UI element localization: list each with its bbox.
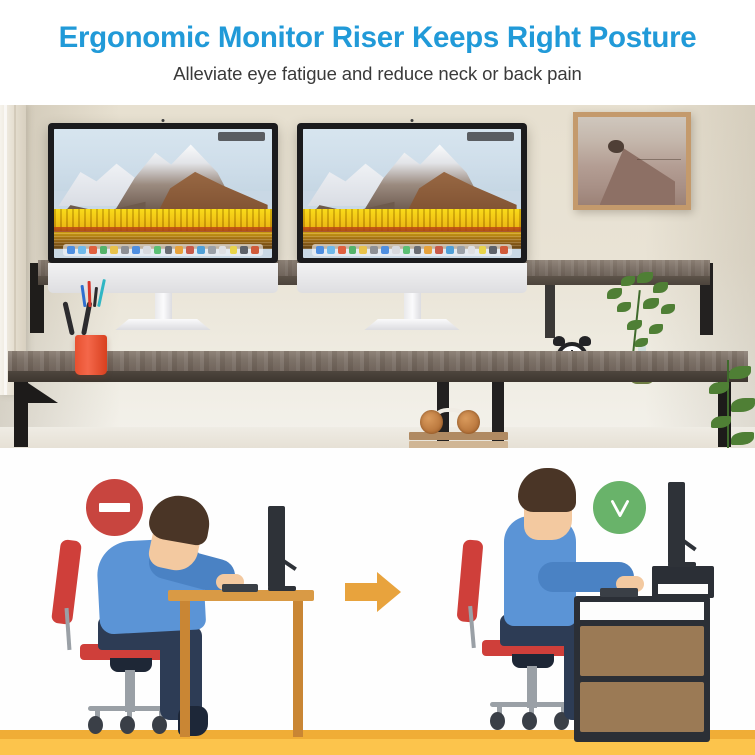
leaf	[649, 324, 663, 334]
person-hair	[518, 468, 576, 512]
artwork-hill	[600, 143, 676, 205]
leaf	[617, 302, 631, 312]
right-monitor-camera	[411, 119, 414, 122]
leaf	[661, 304, 675, 314]
photo-floor	[0, 427, 755, 448]
screen-dock	[63, 244, 264, 256]
leaf	[627, 320, 642, 330]
headphone-earcup-right	[457, 410, 480, 434]
desk-front-edge	[8, 371, 748, 382]
chair-caster-2	[120, 716, 135, 734]
riser-leg-middle	[545, 280, 555, 338]
leaf	[653, 282, 668, 293]
right-monitor-base	[365, 319, 460, 330]
right-monitor-screen	[303, 129, 521, 258]
page-subtitle: Alleviate eye fatigue and reduce neck or…	[0, 63, 755, 85]
keyboard	[600, 588, 638, 597]
keyboard	[222, 584, 258, 592]
leaf	[637, 272, 653, 283]
right-monitor-chin	[297, 263, 527, 293]
right-monitor	[297, 123, 527, 330]
pencil-cup	[75, 335, 107, 375]
floor-plant	[713, 360, 755, 448]
monitor-base	[668, 562, 696, 567]
monitor-riser-shelf	[658, 584, 708, 594]
vase-foliage	[605, 270, 685, 360]
left-monitor-neck	[155, 293, 172, 319]
desk-surface	[8, 351, 748, 371]
monitor-base	[268, 586, 296, 591]
header-section: Ergonomic Monitor Riser Keeps Right Post…	[0, 0, 755, 105]
product-feature-image: Ergonomic Monitor Riser Keeps Right Post…	[0, 0, 755, 755]
left-monitor-bezel	[48, 123, 278, 263]
leaf	[731, 398, 755, 412]
leaf	[607, 288, 622, 299]
cabinet-drawer-upper	[580, 626, 704, 676]
right-monitor-bezel	[297, 123, 527, 263]
bad-posture-scene	[0, 448, 378, 755]
leaf	[635, 338, 648, 347]
headphone-earcup-left	[420, 410, 443, 434]
pens-group	[80, 317, 104, 341]
good-posture-scene	[378, 448, 755, 755]
scissor-blade-left	[62, 301, 75, 335]
leaf	[709, 382, 729, 394]
page-title: Ergonomic Monitor Riser Keeps Right Post…	[0, 22, 755, 54]
left-monitor-base	[116, 319, 211, 330]
desk-woodgrain	[8, 351, 748, 371]
cabinet-drawer-lower	[580, 682, 704, 732]
leaf	[731, 432, 754, 445]
chair-caster-1	[88, 716, 103, 734]
screen-dock	[312, 244, 513, 256]
screen-menubar	[467, 132, 515, 141]
chair-caster-2	[522, 712, 537, 730]
framed-artwork	[573, 112, 691, 210]
left-monitor-camera	[162, 119, 165, 122]
artwork-canvas	[578, 117, 686, 205]
headphones	[414, 408, 486, 436]
artwork-tree	[608, 140, 624, 153]
left-monitor-screen	[54, 129, 272, 258]
product-photo: THRIFT EPSON	[0, 105, 755, 448]
chair-caster-1	[490, 712, 505, 730]
monitor-screen	[268, 506, 285, 588]
desk-leg-left	[180, 601, 190, 737]
leaf	[729, 366, 751, 379]
leaf	[621, 276, 635, 286]
cabinet-top-panel	[580, 602, 704, 620]
leaf	[643, 298, 659, 309]
artwork-horizon	[637, 159, 680, 160]
desk-leg-right	[293, 601, 303, 737]
right-monitor-neck	[404, 293, 421, 319]
screen-menubar	[218, 132, 266, 141]
monitor-screen	[668, 482, 685, 564]
book-middle	[409, 441, 508, 448]
